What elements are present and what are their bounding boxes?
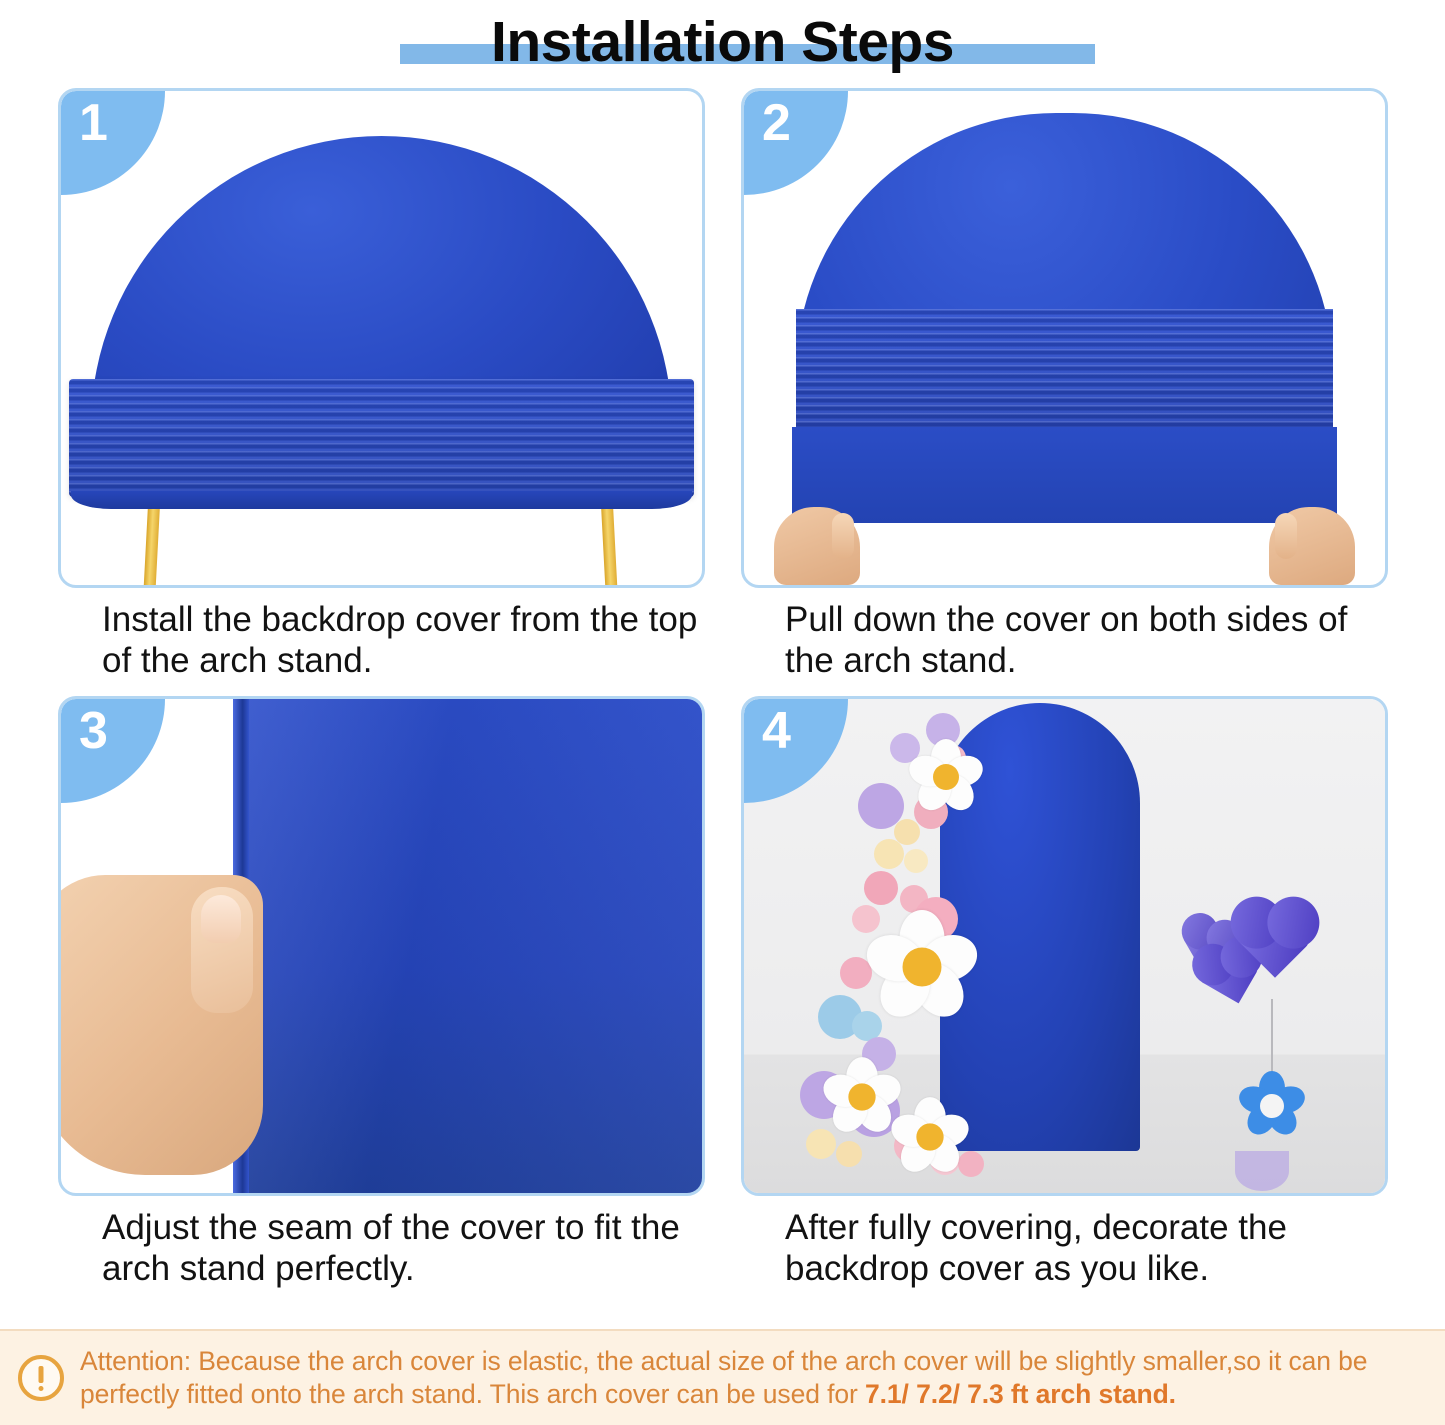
attention-text: Attention: Because the arch cover is ela… — [80, 1345, 1427, 1412]
cover-fabric — [233, 699, 702, 1193]
step-1-photo — [61, 91, 702, 585]
page-title: Installation Steps — [0, 0, 1445, 88]
step-4-caption: After fully covering, decorate the backd… — [741, 1208, 1388, 1290]
step-2-photo — [744, 91, 1385, 585]
balloon — [874, 839, 904, 869]
balloon — [852, 905, 880, 933]
step-3-caption: Adjust the seam of the cover to fit the … — [58, 1208, 705, 1290]
step-4: 4 After fully covering, decorate the bac… — [741, 696, 1388, 1290]
step-4-number: 4 — [762, 705, 791, 757]
flower-leaf-decal — [1235, 1151, 1289, 1191]
exclamation-circle-icon — [18, 1355, 64, 1401]
step-4-photo — [744, 699, 1385, 1193]
step-3-card: 3 — [58, 696, 705, 1196]
attention-banner: Attention: Because the arch cover is ela… — [0, 1329, 1445, 1425]
arch-cover-hem — [71, 491, 692, 509]
balloon-string — [1271, 999, 1273, 1077]
blue-flower-decal — [1237, 1071, 1307, 1141]
step-3-photo — [61, 699, 702, 1193]
arch-cover-lower-panel — [792, 427, 1337, 523]
step-1: 1 Install the backdrop cover from the to… — [58, 88, 705, 682]
step-3: 3 Adjust the seam of the cover to fit th… — [58, 696, 705, 1290]
step-2-card: 2 — [741, 88, 1388, 588]
step-1-card: 1 — [58, 88, 705, 588]
arch-cover-ruching — [796, 309, 1333, 427]
steps-grid: 1 Install the backdrop cover from the to… — [0, 88, 1445, 1290]
balloon — [864, 871, 898, 905]
step-3-number: 3 — [79, 705, 108, 757]
title-text: Installation Steps — [491, 14, 954, 75]
balloon — [904, 849, 928, 873]
step-2-caption: Pull down the cover on both sides of the… — [741, 600, 1388, 682]
hand-right — [1269, 507, 1355, 585]
balloon — [806, 1129, 836, 1159]
step-2-number: 2 — [762, 97, 791, 149]
balloon — [958, 1151, 984, 1177]
step-2: 2 Pull down the cover on both sides of t… — [741, 88, 1388, 682]
step-4-card: 4 — [741, 696, 1388, 1196]
thumbnail — [201, 895, 241, 943]
step-1-number: 1 — [79, 97, 108, 149]
attention-text-bold: 7.1/ 7.2/ 7.3 ft arch stand. — [865, 1379, 1176, 1409]
balloon — [836, 1141, 862, 1167]
step-1-caption: Install the backdrop cover from the top … — [58, 600, 705, 682]
arch-cover-ruching — [69, 379, 694, 497]
hand-left — [774, 507, 860, 585]
